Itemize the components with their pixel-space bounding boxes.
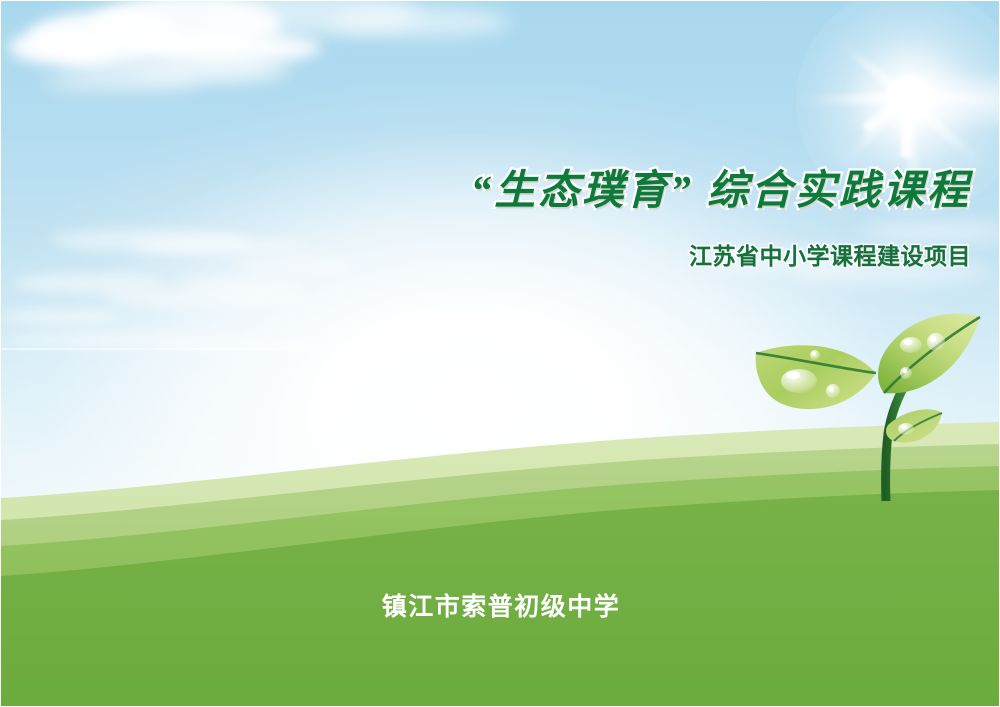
main-title-container: “生态璞育” 综合实践课程 — [1, 167, 971, 214]
green-sprout-icon — [736, 301, 1000, 501]
school-name: 镇江市索普初级中学 — [382, 587, 621, 623]
course-cover-poster: “生态璞育” 综合实践课程 江苏省中小学课程建设项目 镇江市索普初级中学 — [0, 0, 1000, 707]
leaf-left — [756, 345, 876, 409]
school-name-container: 镇江市索普初级中学 — [1, 587, 1000, 623]
page-subtitle: 江苏省中小学课程建设项目 — [689, 237, 971, 271]
subtitle-container: 江苏省中小学课程建设项目 — [1, 237, 971, 271]
leaf-upper-right — [878, 314, 980, 394]
page-title: “生态璞育” 综合实践课程 — [471, 167, 971, 214]
